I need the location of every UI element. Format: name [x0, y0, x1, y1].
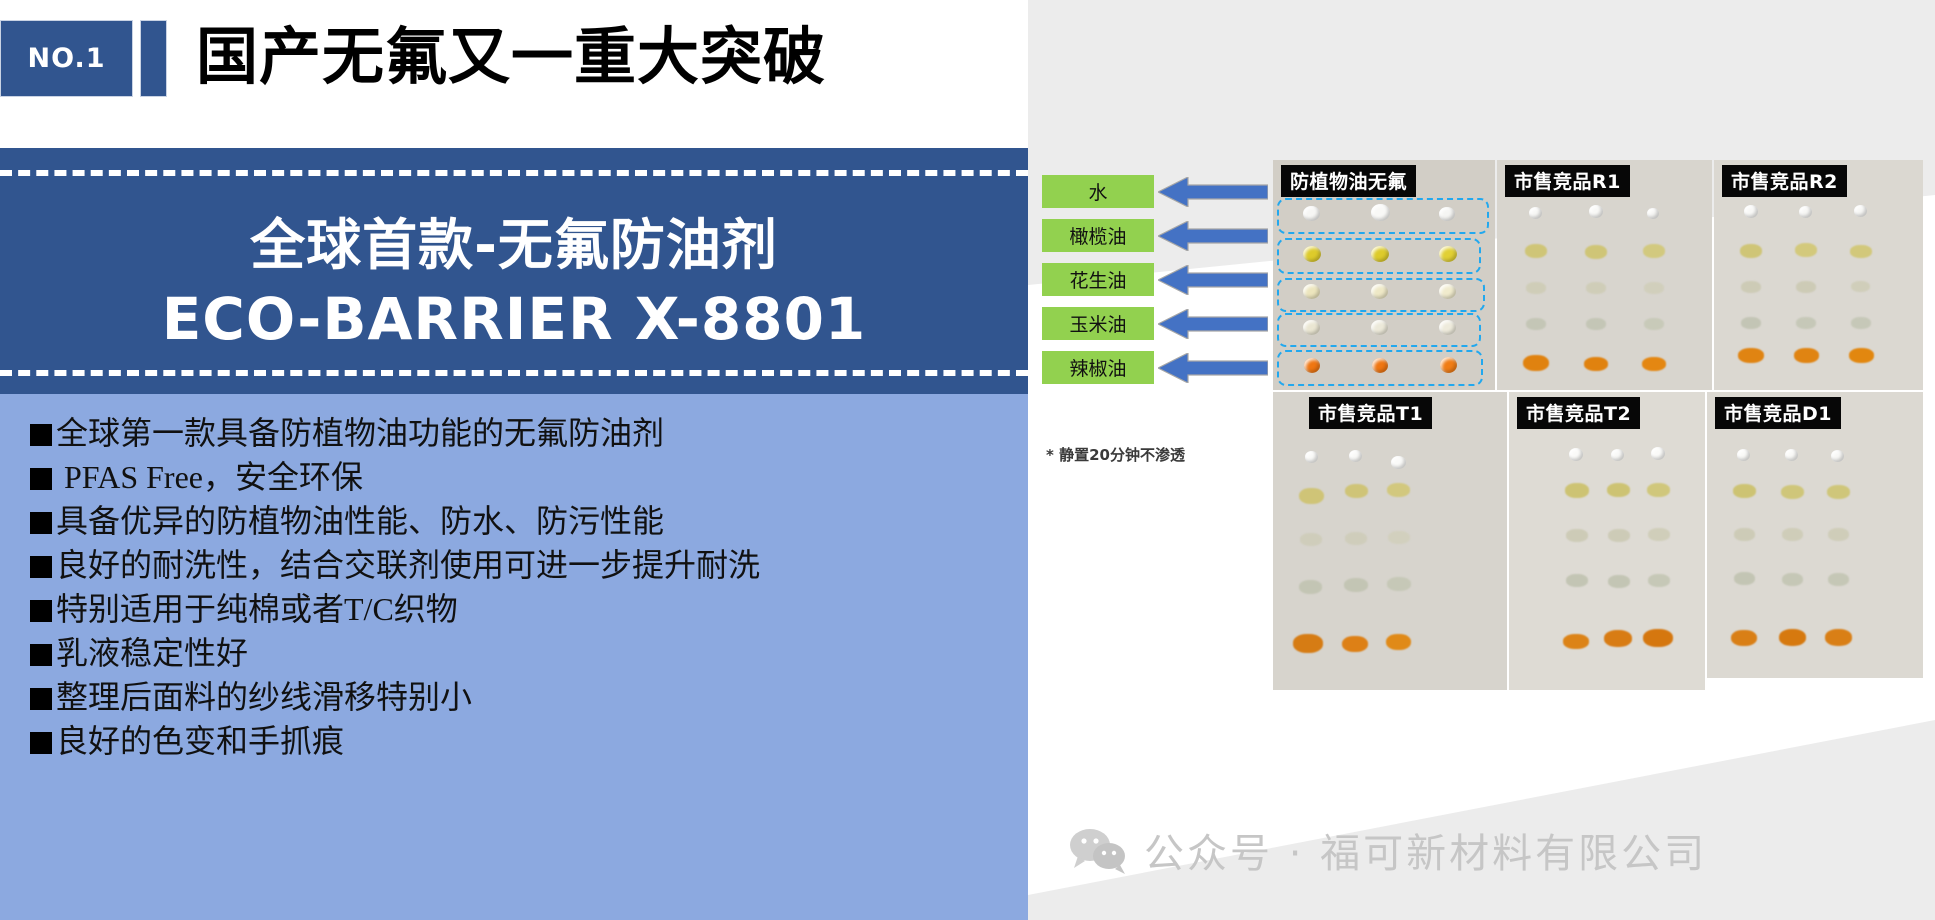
bullet-text: 具备优异的防植物油性能、防水、防污性能: [56, 503, 664, 539]
legend-chip-water: 水: [1042, 175, 1154, 208]
droplet: [1523, 355, 1549, 371]
highlight-box: [1277, 350, 1483, 386]
droplet: [1779, 629, 1806, 646]
droplet: [1388, 531, 1410, 544]
bullet-text: 全球第一款具备防植物油功能的无氟防油剂: [56, 415, 664, 451]
left-arrow-icon: [1158, 265, 1268, 295]
legend-chip-chili-oil: 辣椒油: [1042, 351, 1154, 384]
test-swatch-grid: 防植物油无氟: [1273, 160, 1923, 770]
droplet: [1349, 450, 1362, 462]
square-bullet-icon: [30, 424, 52, 446]
swatch-panel-competitor-t1: 市售竞品T1: [1273, 392, 1507, 690]
droplet: [1737, 449, 1750, 461]
left-content-panel: NO.1 国产无氟又一重大突破 全球首款-无氟防油剂 ECO-BARRIER X…: [0, 0, 1028, 920]
list-item: 特别适用于纯棉或者T/C织物: [30, 587, 1010, 631]
droplet: [1782, 573, 1803, 586]
droplet: [1566, 529, 1588, 542]
droplet: [1607, 483, 1630, 497]
no1-badge: NO.1: [0, 20, 133, 97]
droplet: [1608, 575, 1630, 588]
droplet: [1744, 205, 1758, 218]
droplet: [1387, 577, 1411, 591]
list-item: 良好的耐洗性，结合交联剂使用可进一步提升耐洗: [30, 543, 1010, 587]
banner-dashed-divider-top: [0, 170, 1028, 176]
watermark: 公众号 · 福可新材料有限公司: [1068, 815, 1928, 885]
droplet: [1644, 282, 1664, 294]
left-arrow-icon: [1158, 221, 1268, 251]
droplet: [1300, 533, 1322, 546]
droplet: [1851, 281, 1870, 292]
droplet: [1644, 318, 1664, 330]
list-item: 整理后面料的纱线滑移特别小: [30, 675, 1010, 719]
droplet: [1526, 318, 1546, 330]
droplet: [1828, 528, 1849, 541]
left-arrow-icon: [1158, 177, 1268, 207]
droplet: [1299, 580, 1322, 594]
droplet: [1741, 317, 1761, 329]
droplet: [1643, 629, 1673, 647]
bullet-text: PFAS Free，安全环保: [56, 459, 363, 495]
droplet: [1647, 208, 1659, 219]
banner-product-code: ECO-BARRIER X-8801: [0, 283, 1028, 355]
droplet: [1611, 449, 1624, 461]
square-bullet-icon: [30, 556, 52, 578]
droplet: [1608, 529, 1630, 542]
droplet: [1795, 243, 1817, 257]
legend-chip-olive-oil: 橄榄油: [1042, 219, 1154, 252]
droplet: [1345, 532, 1367, 545]
droplet: [1387, 483, 1410, 497]
droplet: [1825, 629, 1852, 646]
feature-list-area: 全球第一款具备防植物油功能的无氟防油剂 PFAS Free，安全环保 具备优异的…: [0, 394, 1028, 920]
droplet: [1731, 630, 1757, 646]
droplet: [1391, 456, 1406, 469]
droplet: [1586, 318, 1606, 330]
bullet-text: 良好的耐洗性，结合交联剂使用可进一步提升耐洗: [56, 547, 760, 583]
droplet: [1586, 282, 1606, 294]
watermark-text: 公众号 · 福可新材料有限公司: [1144, 821, 1707, 879]
droplet: [1529, 207, 1542, 219]
slide-header: NO.1 国产无氟又一重大突破: [0, 0, 1028, 148]
droplet: [1648, 574, 1670, 587]
highlight-box: [1277, 198, 1489, 234]
droplet: [1831, 450, 1844, 462]
droplet: [1734, 572, 1755, 585]
bullet-text: 整理后面料的纱线滑移特别小: [56, 679, 472, 715]
list-item: 良好的色变和手抓痕: [30, 719, 1010, 763]
square-bullet-icon: [30, 732, 52, 754]
swatch-panel-fluorine-free: 防植物油无氟: [1273, 160, 1495, 390]
panel-caption: 市售竞品D1: [1715, 397, 1841, 429]
highlight-box: [1277, 238, 1481, 274]
droplet: [1741, 281, 1761, 293]
right-visual-panel: 水 橄榄油 花生油 玉米油: [1028, 0, 1935, 920]
droplet: [1342, 636, 1368, 652]
droplet: [1293, 634, 1323, 653]
droplet: [1386, 634, 1411, 650]
left-arrow-icon: [1158, 309, 1268, 339]
droplet: [1740, 244, 1762, 258]
badge-accent-bar: [140, 20, 167, 97]
droplet: [1525, 244, 1547, 258]
droplet: [1782, 528, 1803, 541]
product-banner: 全球首款-无氟防油剂 ECO-BARRIER X-8801: [0, 148, 1028, 394]
swatch-panel-competitor-t2: 市售竞品T2: [1509, 392, 1705, 690]
droplet: [1850, 245, 1872, 258]
droplet: [1796, 317, 1816, 329]
wechat-icon: [1068, 826, 1130, 874]
droplet: [1345, 484, 1368, 498]
droplet: [1642, 357, 1666, 371]
droplet: [1648, 528, 1670, 541]
swatch-panel-competitor-d1: 市售竞品D1: [1707, 392, 1923, 678]
droplet: [1799, 206, 1812, 218]
droplet: [1643, 244, 1665, 258]
droplet: [1738, 348, 1764, 363]
swatch-panel-competitor-r1: 市售竞品R1: [1497, 160, 1712, 390]
droplet: [1794, 348, 1819, 363]
legend-chip-peanut-oil: 花生油: [1042, 263, 1154, 296]
droplet: [1785, 449, 1798, 461]
list-item: PFAS Free，安全环保: [30, 455, 1010, 499]
panel-caption: 市售竞品T1: [1309, 397, 1432, 429]
droplet: [1651, 447, 1665, 460]
droplet: [1733, 484, 1756, 498]
bullet-text: 良好的色变和手抓痕: [56, 723, 344, 759]
bullet-text: 特别适用于纯棉或者T/C织物: [56, 591, 458, 627]
panel-caption: 市售竞品R1: [1505, 165, 1630, 197]
list-item: 全球第一款具备防植物油功能的无氟防油剂: [30, 411, 1010, 455]
highlight-box: [1277, 313, 1481, 347]
list-item: 具备优异的防植物油性能、防水、防污性能: [30, 499, 1010, 543]
left-arrow-icon: [1158, 353, 1268, 383]
droplet: [1827, 485, 1850, 499]
droplet: [1526, 282, 1546, 294]
droplet: [1828, 573, 1849, 586]
droplet: [1305, 451, 1318, 463]
droplet: [1566, 574, 1588, 587]
droplet: [1647, 483, 1670, 497]
droplet: [1604, 630, 1632, 647]
square-bullet-icon: [30, 512, 52, 534]
droplet: [1589, 205, 1603, 218]
panel-caption: 市售竞品R2: [1722, 165, 1847, 197]
highlight-box: [1277, 278, 1485, 312]
panel-caption: 防植物油无氟: [1281, 165, 1416, 197]
banner-headline-cn: 全球首款-无氟防油剂: [0, 210, 1028, 280]
droplet: [1796, 281, 1816, 293]
square-bullet-icon: [30, 600, 52, 622]
bullet-text: 乳液稳定性好: [56, 635, 248, 671]
slide-root: NO.1 国产无氟又一重大突破 全球首款-无氟防油剂 ECO-BARRIER X…: [0, 0, 1935, 920]
droplet: [1563, 634, 1589, 649]
square-bullet-icon: [30, 644, 52, 666]
droplet: [1781, 485, 1804, 499]
droplet: [1734, 528, 1755, 541]
droplet: [1854, 205, 1867, 217]
banner-dashed-divider-bottom: [0, 370, 1028, 376]
droplet: [1299, 488, 1324, 504]
panel-caption: 市售竞品T2: [1517, 397, 1640, 429]
bullet-list: 全球第一款具备防植物油功能的无氟防油剂 PFAS Free，安全环保 具备优异的…: [30, 411, 1010, 763]
droplet: [1849, 348, 1874, 363]
square-bullet-icon: [30, 468, 52, 490]
droplet: [1565, 483, 1589, 498]
droplet: [1851, 317, 1871, 329]
droplet: [1584, 357, 1608, 371]
droplet: [1569, 448, 1583, 461]
swatch-panel-competitor-r2: 市售竞品R2: [1714, 160, 1923, 390]
page-title: 国产无氟又一重大突破: [196, 18, 826, 96]
droplet: [1585, 245, 1607, 259]
square-bullet-icon: [30, 688, 52, 710]
list-item: 乳液稳定性好: [30, 631, 1010, 675]
droplet: [1344, 578, 1368, 592]
legend-chip-corn-oil: 玉米油: [1042, 307, 1154, 340]
